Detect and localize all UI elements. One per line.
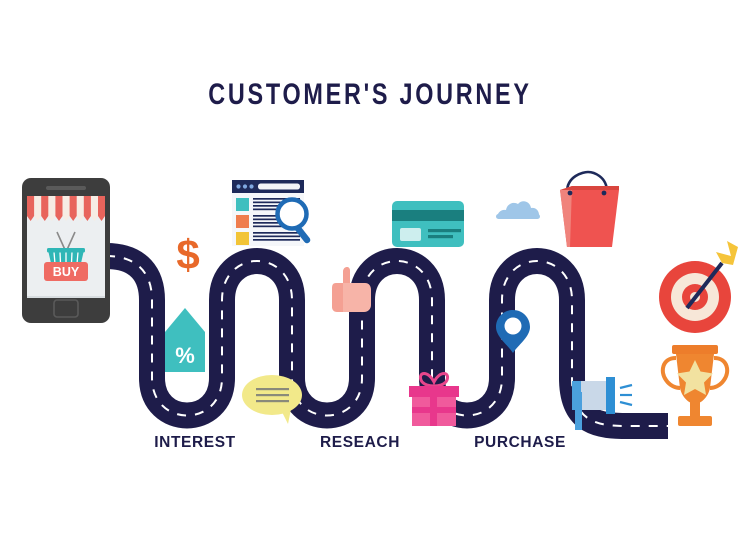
speech-bubble-icon [242, 375, 302, 424]
thumbs-up-icon [332, 267, 371, 312]
gift-box-icon [409, 374, 459, 427]
stage-label-interest: INTEREST [125, 434, 265, 452]
customer-journey-infographic: CUSTOMER'S JOURNEY [0, 0, 740, 555]
buy-button[interactable]: BUY [44, 262, 88, 281]
target-arrow-icon [659, 241, 738, 333]
svg-text:%: % [175, 343, 195, 368]
stage-label-research: RESEACH [290, 434, 430, 452]
dollar-sign-icon: $ [176, 231, 199, 278]
svg-text:$: $ [176, 231, 199, 278]
browser-search-window[interactable] [232, 180, 312, 246]
buy-button-label: BUY [53, 265, 80, 279]
awning-icon [27, 196, 105, 221]
cloud-icon [496, 201, 540, 219]
location-pin-icon [496, 310, 530, 353]
stage-label-purchase: PURCHASE [450, 434, 590, 452]
megaphone-icon [572, 377, 632, 430]
icon-layer: BUY $ % [0, 0, 740, 555]
credit-card-icon[interactable] [392, 201, 464, 247]
shopping-bag-icon [560, 172, 619, 247]
smartphone-store-icon[interactable]: BUY [22, 178, 110, 323]
trophy-icon [663, 345, 727, 426]
percent-arrow-icon: % [165, 308, 205, 372]
